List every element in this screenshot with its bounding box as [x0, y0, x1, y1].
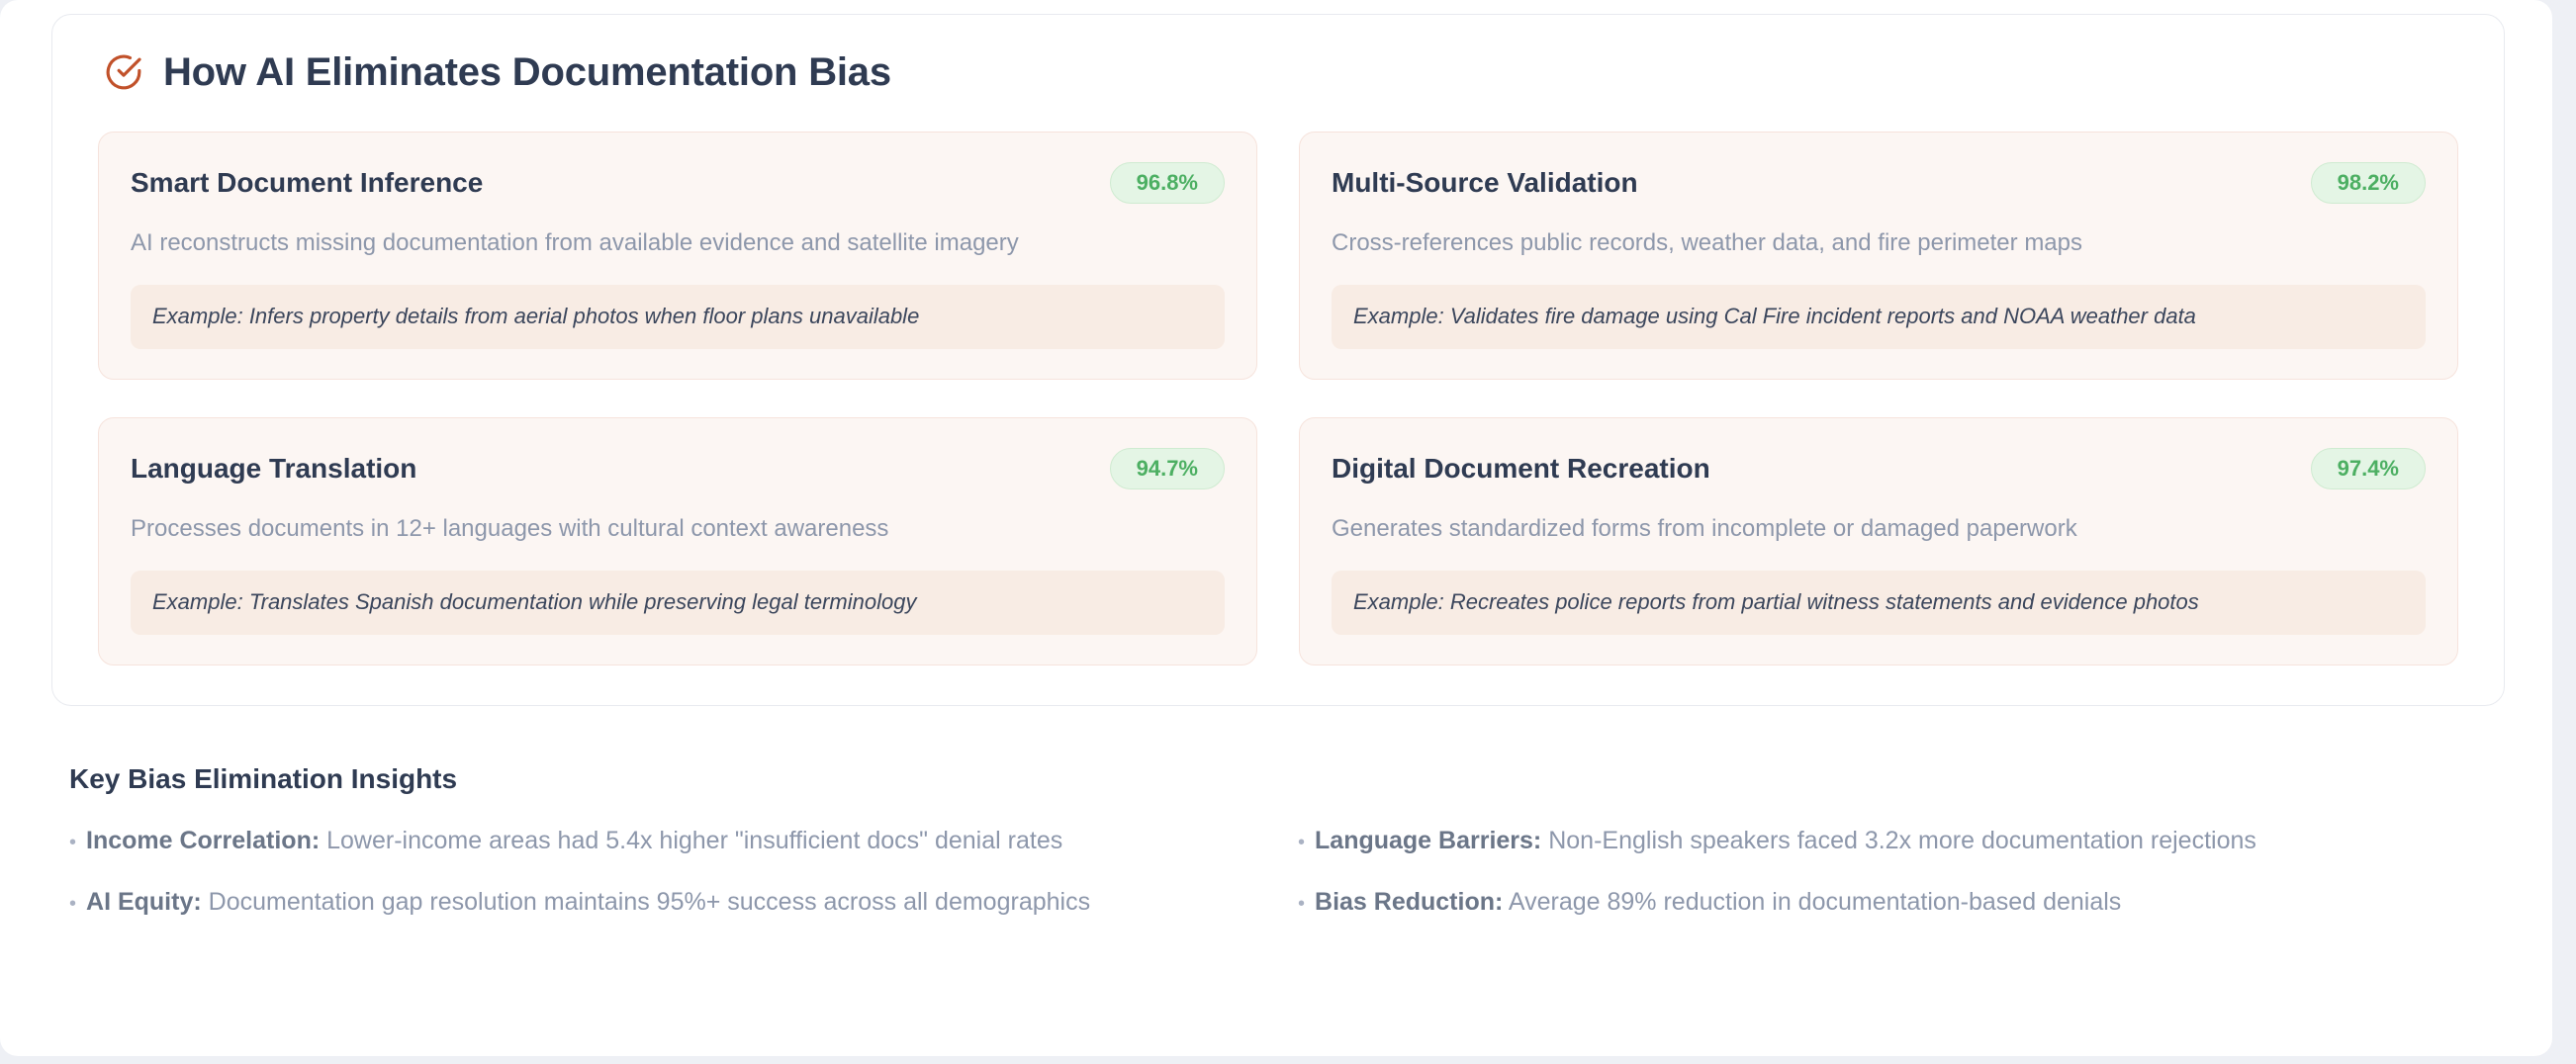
insight-item-income-correlation: • Income Correlation: Lower-income areas…	[69, 825, 1254, 857]
insights-grid: • Income Correlation: Lower-income areas…	[69, 825, 2483, 919]
insight-item-bias-reduction: • Bias Reduction: Average 89% reduction …	[1298, 886, 2483, 919]
bullet-icon: •	[69, 891, 76, 917]
insight-label: Income Correlation:	[86, 827, 320, 854]
card-description: Cross-references public records, weather…	[1332, 227, 2426, 259]
bullet-icon: •	[1298, 830, 1305, 855]
card-title: Digital Document Recreation	[1332, 452, 1710, 486]
circle-check-icon	[104, 52, 143, 92]
insight-item-language-barriers: • Language Barriers: Non-English speaker…	[1298, 825, 2483, 857]
insight-text: Lower-income areas had 5.4x higher "insu…	[326, 827, 1062, 854]
bullet-icon: •	[69, 830, 76, 855]
card-description: AI reconstructs missing documentation fr…	[131, 227, 1225, 259]
card-example: Example: Translates Spanish documentatio…	[131, 571, 1225, 635]
insight-text: Documentation gap resolution maintains 9…	[209, 888, 1090, 916]
feature-card-multi-source-validation[interactable]: Multi-Source Validation 98.2% Cross-refe…	[1299, 132, 2458, 380]
feature-card-language-translation[interactable]: Language Translation 94.7% Processes doc…	[98, 417, 1257, 665]
card-title: Multi-Source Validation	[1332, 166, 1638, 200]
insight-text: Average 89% reduction in documentation-b…	[1509, 888, 2121, 916]
card-example: Example: Recreates police reports from p…	[1332, 571, 2426, 635]
accuracy-badge: 96.8%	[1110, 162, 1225, 204]
card-header: Digital Document Recreation 97.4%	[1332, 448, 2426, 489]
page-title: How AI Eliminates Documentation Bias	[163, 50, 891, 94]
page-sheet: How AI Eliminates Documentation Bias Sma…	[0, 0, 2552, 1056]
card-title: Language Translation	[131, 452, 416, 486]
insights-heading: Key Bias Elimination Insights	[69, 763, 2483, 795]
page-bottom-edge	[0, 1056, 2576, 1064]
insight-text: Non-English speakers faced 3.2x more doc…	[1548, 827, 2256, 854]
card-description: Generates standardized forms from incomp…	[1332, 513, 2426, 545]
card-example: Example: Infers property details from ae…	[131, 285, 1225, 349]
ai-documentation-bias-panel: How AI Eliminates Documentation Bias Sma…	[51, 14, 2505, 706]
insight-item-ai-equity: • AI Equity: Documentation gap resolutio…	[69, 886, 1254, 919]
accuracy-badge: 98.2%	[2311, 162, 2426, 204]
card-description: Processes documents in 12+ languages wit…	[131, 513, 1225, 545]
bullet-icon: •	[1298, 891, 1305, 917]
insight-label: AI Equity:	[86, 888, 202, 916]
card-header: Multi-Source Validation 98.2%	[1332, 162, 2426, 204]
key-insights-section: Key Bias Elimination Insights • Income C…	[51, 763, 2501, 919]
accuracy-badge: 94.7%	[1110, 448, 1225, 489]
card-header: Smart Document Inference 96.8%	[131, 162, 1225, 204]
card-header: Language Translation 94.7%	[131, 448, 1225, 489]
accuracy-badge: 97.4%	[2311, 448, 2426, 489]
card-title: Smart Document Inference	[131, 166, 483, 200]
insight-label: Bias Reduction:	[1315, 888, 1503, 916]
feature-card-smart-document-inference[interactable]: Smart Document Inference 96.8% AI recons…	[98, 132, 1257, 380]
feature-card-digital-document-recreation[interactable]: Digital Document Recreation 97.4% Genera…	[1299, 417, 2458, 665]
insight-label: Language Barriers:	[1315, 827, 1541, 854]
panel-header: How AI Eliminates Documentation Bias	[88, 44, 2468, 94]
feature-card-grid: Smart Document Inference 96.8% AI recons…	[88, 132, 2468, 665]
card-example: Example: Validates fire damage using Cal…	[1332, 285, 2426, 349]
page-content: How AI Eliminates Documentation Bias Sma…	[0, 0, 2552, 919]
